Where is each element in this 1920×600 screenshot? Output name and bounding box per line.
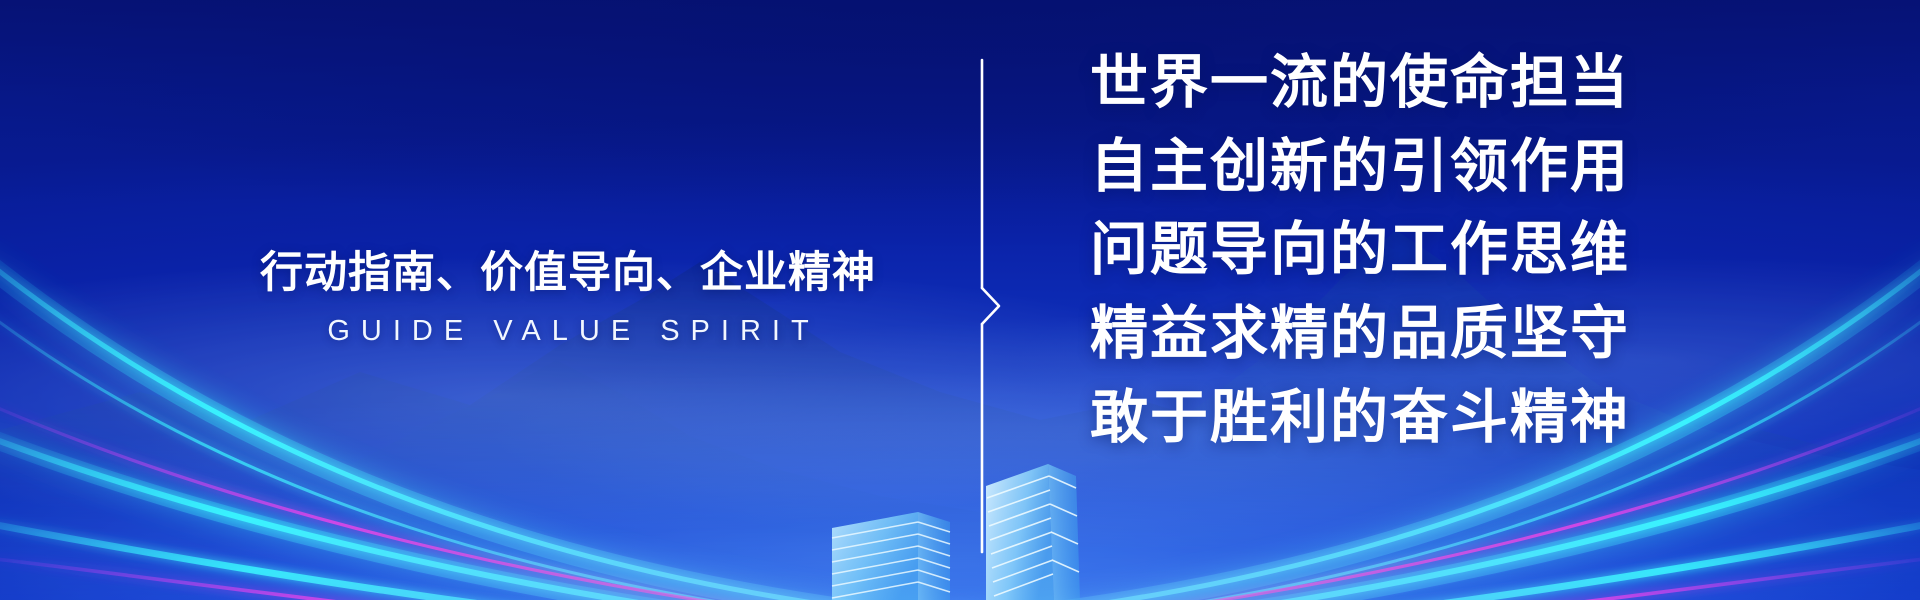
hero-banner: 行动指南、价值导向、企业精神 GUIDE VALUE SPIRIT 世界一流的使… <box>0 0 1920 600</box>
glass-tower-silhouettes <box>790 450 1110 600</box>
right-text-block: 世界一流的使命担当 自主创新的引领作用 问题导向的工作思维 精益求精的品质坚守 … <box>1090 52 1630 449</box>
slogan-line-3: 问题导向的工作思维 <box>1090 219 1630 282</box>
slogan-line-2: 自主创新的引领作用 <box>1090 136 1630 199</box>
left-title: 行动指南、价值导向、企业精神 <box>238 248 898 299</box>
slogan-line-5: 敢于胜利的奋斗精神 <box>1090 387 1630 450</box>
left-subtitle: GUIDE VALUE SPIRIT <box>238 315 898 348</box>
slogan-line-4: 精益求精的品质坚守 <box>1090 303 1630 366</box>
section-divider <box>975 60 1005 552</box>
chevron-right-icon <box>982 60 999 552</box>
slogan-line-1: 世界一流的使命担当 <box>1090 52 1630 115</box>
left-text-block: 行动指南、价值导向、企业精神 GUIDE VALUE SPIRIT <box>238 248 898 348</box>
